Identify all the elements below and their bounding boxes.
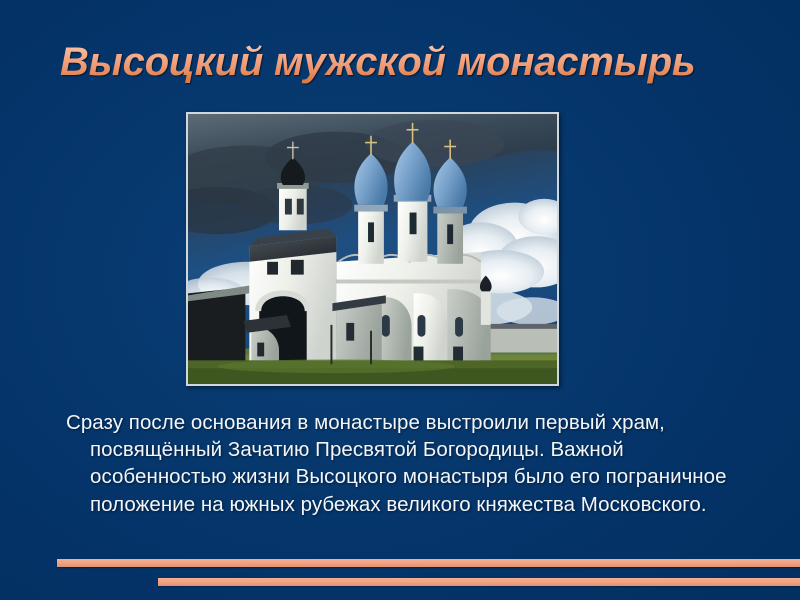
slide-title: Высоцкий мужской монастырь (60, 38, 750, 86)
accent-bar-lower (158, 578, 800, 586)
monastery-photo (186, 112, 559, 386)
slide-body-text: Сразу после основания в монастыре выстро… (66, 409, 738, 518)
monastery-photo-image (188, 114, 557, 384)
accent-bar-upper (57, 559, 800, 567)
presentation-slide: Высоцкий мужской монастырь (0, 0, 800, 600)
